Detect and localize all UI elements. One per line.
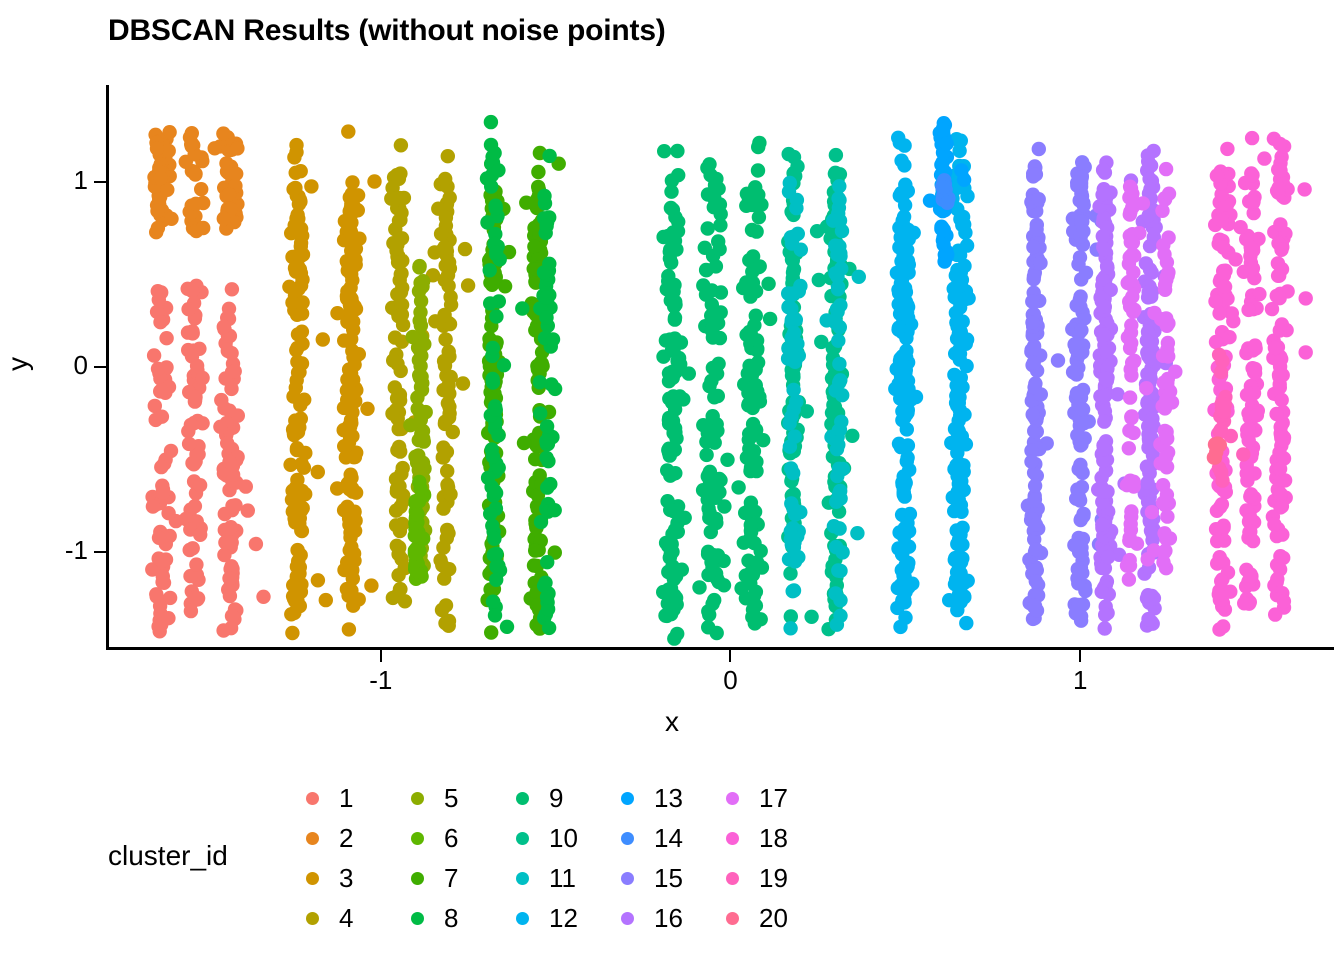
legend-dot-icon: [306, 912, 319, 925]
legend-item[interactable]: 8: [400, 898, 505, 938]
legend-item-label: 19: [759, 863, 788, 894]
legend-item-label: 3: [339, 863, 353, 894]
legend-dot-icon: [621, 832, 634, 845]
legend-swatch-icon: [505, 861, 539, 895]
legend-swatch-icon: [715, 821, 749, 855]
scatter-canvas: [108, 86, 1332, 648]
legend-dot-icon: [726, 872, 739, 885]
legend-items: 1234567891011121314151617181920: [295, 778, 820, 938]
legend-item[interactable]: 4: [295, 898, 400, 938]
y-tick-mark: [94, 181, 106, 183]
legend-dot-icon: [411, 872, 424, 885]
y-tick-mark: [94, 366, 106, 368]
legend-dot-icon: [411, 832, 424, 845]
legend-swatch-icon: [295, 821, 329, 855]
legend-item-label: 1: [339, 783, 353, 814]
legend-swatch-icon: [715, 861, 749, 895]
legend-dot-icon: [306, 832, 319, 845]
legend-item[interactable]: 14: [610, 818, 715, 858]
legend-dot-icon: [621, 792, 634, 805]
plot-root: DBSCAN Results (without noise points) 10…: [0, 0, 1344, 960]
legend-dot-icon: [516, 792, 529, 805]
x-axis-line: [106, 647, 1334, 650]
legend-item[interactable]: 19: [715, 858, 820, 898]
legend-dot-icon: [516, 872, 529, 885]
legend-item[interactable]: 17: [715, 778, 820, 818]
legend-swatch-icon: [400, 861, 434, 895]
legend-swatch-icon: [505, 821, 539, 855]
y-axis-line: [106, 85, 109, 650]
legend-swatch-icon: [610, 781, 644, 815]
plot-panel: [108, 86, 1332, 648]
x-tick-mark: [729, 650, 731, 662]
legend-item-label: 10: [549, 823, 578, 854]
x-tick-label: 0: [690, 665, 770, 696]
legend-item[interactable]: 1: [295, 778, 400, 818]
legend-dot-icon: [306, 872, 319, 885]
cluster-points: [384, 138, 475, 633]
legend-swatch-icon: [715, 781, 749, 815]
x-tick-mark: [1079, 650, 1081, 662]
legend-item-label: 15: [654, 863, 683, 894]
legend-dot-icon: [621, 912, 634, 925]
legend-item[interactable]: 7: [400, 858, 505, 898]
legend-swatch-icon: [400, 781, 434, 815]
cluster-points: [480, 115, 563, 635]
legend-item-label: 16: [654, 903, 683, 934]
legend-swatch-icon: [610, 821, 644, 855]
y-tick-mark: [94, 551, 106, 553]
cluster-points: [147, 125, 244, 239]
legend-item[interactable]: 13: [610, 778, 715, 818]
legend-swatch-icon: [715, 901, 749, 935]
x-tick-mark: [380, 650, 382, 662]
legend-swatch-icon: [505, 901, 539, 935]
legend-item[interactable]: 18: [715, 818, 820, 858]
y-tick-label: 0: [74, 350, 88, 381]
legend-item-label: 20: [759, 903, 788, 934]
legend-item-label: 18: [759, 823, 788, 854]
cluster-points: [1207, 131, 1313, 637]
y-tick-label: -1: [65, 535, 88, 566]
legend-dot-icon: [726, 832, 739, 845]
legend-title: cluster_id: [108, 840, 228, 872]
x-tick-label: 1: [1040, 665, 1120, 696]
legend-item[interactable]: 6: [400, 818, 505, 858]
legend-dot-icon: [411, 912, 424, 925]
legend-item[interactable]: 16: [610, 898, 715, 938]
legend-dot-icon: [306, 792, 319, 805]
legend: cluster_id 12345678910111213141516171819…: [100, 778, 1260, 938]
legend-item[interactable]: 20: [715, 898, 820, 938]
legend-item-label: 14: [654, 823, 683, 854]
x-axis-title: x: [0, 706, 1344, 738]
legend-item-label: 4: [339, 903, 353, 934]
legend-dot-icon: [516, 832, 529, 845]
legend-item-label: 12: [549, 903, 578, 934]
legend-swatch-icon: [400, 821, 434, 855]
cluster-points: [145, 279, 271, 639]
legend-item[interactable]: 3: [295, 858, 400, 898]
y-axis-title: y: [2, 324, 34, 404]
legend-item[interactable]: 2: [295, 818, 400, 858]
y-tick-label: 1: [74, 165, 88, 196]
legend-swatch-icon: [610, 901, 644, 935]
legend-item-label: 6: [444, 823, 458, 854]
legend-item[interactable]: 10: [505, 818, 610, 858]
legend-item-label: 2: [339, 823, 353, 854]
legend-dot-icon: [411, 792, 424, 805]
legend-item[interactable]: 15: [610, 858, 715, 898]
legend-item[interactable]: 12: [505, 898, 610, 938]
cluster-points: [656, 136, 777, 646]
legend-dot-icon: [726, 792, 739, 805]
cluster-points: [282, 124, 381, 640]
legend-swatch-icon: [295, 861, 329, 895]
legend-item-label: 8: [444, 903, 458, 934]
legend-swatch-icon: [295, 781, 329, 815]
legend-swatch-icon: [610, 861, 644, 895]
legend-dot-icon: [621, 872, 634, 885]
x-tick-label: -1: [341, 665, 421, 696]
legend-swatch-icon: [505, 781, 539, 815]
legend-item-label: 13: [654, 783, 683, 814]
legend-item-label: 5: [444, 783, 458, 814]
legend-item-label: 11: [549, 863, 576, 894]
legend-item[interactable]: 9: [505, 778, 610, 818]
legend-item-label: 17: [759, 783, 788, 814]
legend-swatch-icon: [400, 901, 434, 935]
legend-item[interactable]: 11: [505, 858, 610, 898]
cluster-points: [781, 176, 866, 636]
legend-item[interactable]: 5: [400, 778, 505, 818]
page-title: DBSCAN Results (without noise points): [108, 14, 666, 48]
legend-swatch-icon: [295, 901, 329, 935]
legend-dot-icon: [516, 912, 529, 925]
legend-item-label: 9: [549, 783, 563, 814]
legend-item-label: 7: [444, 863, 458, 894]
legend-dot-icon: [726, 912, 739, 925]
